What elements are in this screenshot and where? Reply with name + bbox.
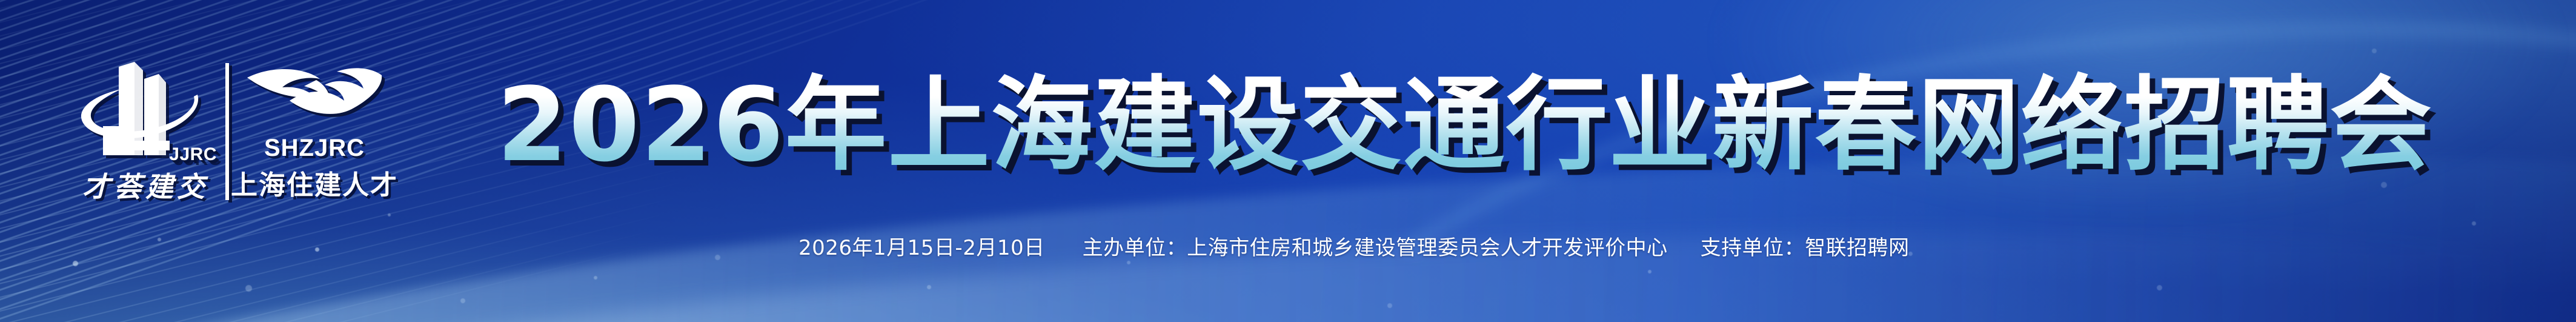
bokeh-dot <box>158 238 161 241</box>
bokeh-dot <box>927 285 931 289</box>
bokeh-dot <box>1127 261 1130 264</box>
bokeh-dot <box>715 255 720 260</box>
recruitment-fair-banner: JJRC 才荟建交 SHZJRC 上海住建人才 2026年上海建设交通行业新春网 <box>0 0 2576 322</box>
jjrc-abbreviation: JJRC <box>169 144 217 165</box>
event-date-range: 2026年1月15日-2月10日 <box>798 231 1045 261</box>
bokeh-dot <box>594 276 597 280</box>
shzjrc-logo: SHZJRC 上海住建人才 <box>245 62 384 202</box>
bokeh-dot <box>1648 270 1651 273</box>
page-title-text: 2026年上海建设交通行业新春网络招聘会 <box>497 65 2433 184</box>
event-meta-line: 2026年1月15日-2月10日 主办单位：上海市住房和城乡建设管理委员会人才开… <box>798 231 1910 261</box>
bird-wing-logo <box>245 62 384 130</box>
bokeh-dot <box>245 285 252 292</box>
bokeh-dot <box>460 298 465 303</box>
bokeh-dot <box>2372 49 2377 53</box>
jjrc-logo: JJRC 才荟建交 <box>79 58 212 205</box>
shzjrc-chinese-name: 上海住建人才 <box>231 163 398 202</box>
shzjrc-abbreviation: SHZJRC <box>264 135 365 162</box>
bokeh-dot <box>73 261 78 266</box>
bokeh-dot <box>2157 285 2162 290</box>
building-swoosh-logo: JJRC <box>79 58 212 161</box>
bokeh-dot <box>1387 303 1392 308</box>
event-organizer: 主办单位：上海市住房和城乡建设管理委员会人才开发评价中心 <box>1083 231 1668 261</box>
jjrc-chinese-name: 才荟建交 <box>82 165 208 205</box>
bokeh-dot <box>2472 221 2476 226</box>
bokeh-dot <box>388 213 391 216</box>
logo-divider <box>225 63 229 200</box>
logo-lockup: JJRC 才荟建交 SHZJRC 上海住建人才 <box>79 58 384 205</box>
event-supporter: 支持单位：智联招聘网 <box>1701 231 1910 261</box>
page-title: 2026年上海建设交通行业新春网络招聘会 2026年上海建设交通行业新春网络招聘… <box>497 74 2433 176</box>
bokeh-dot <box>315 247 319 252</box>
